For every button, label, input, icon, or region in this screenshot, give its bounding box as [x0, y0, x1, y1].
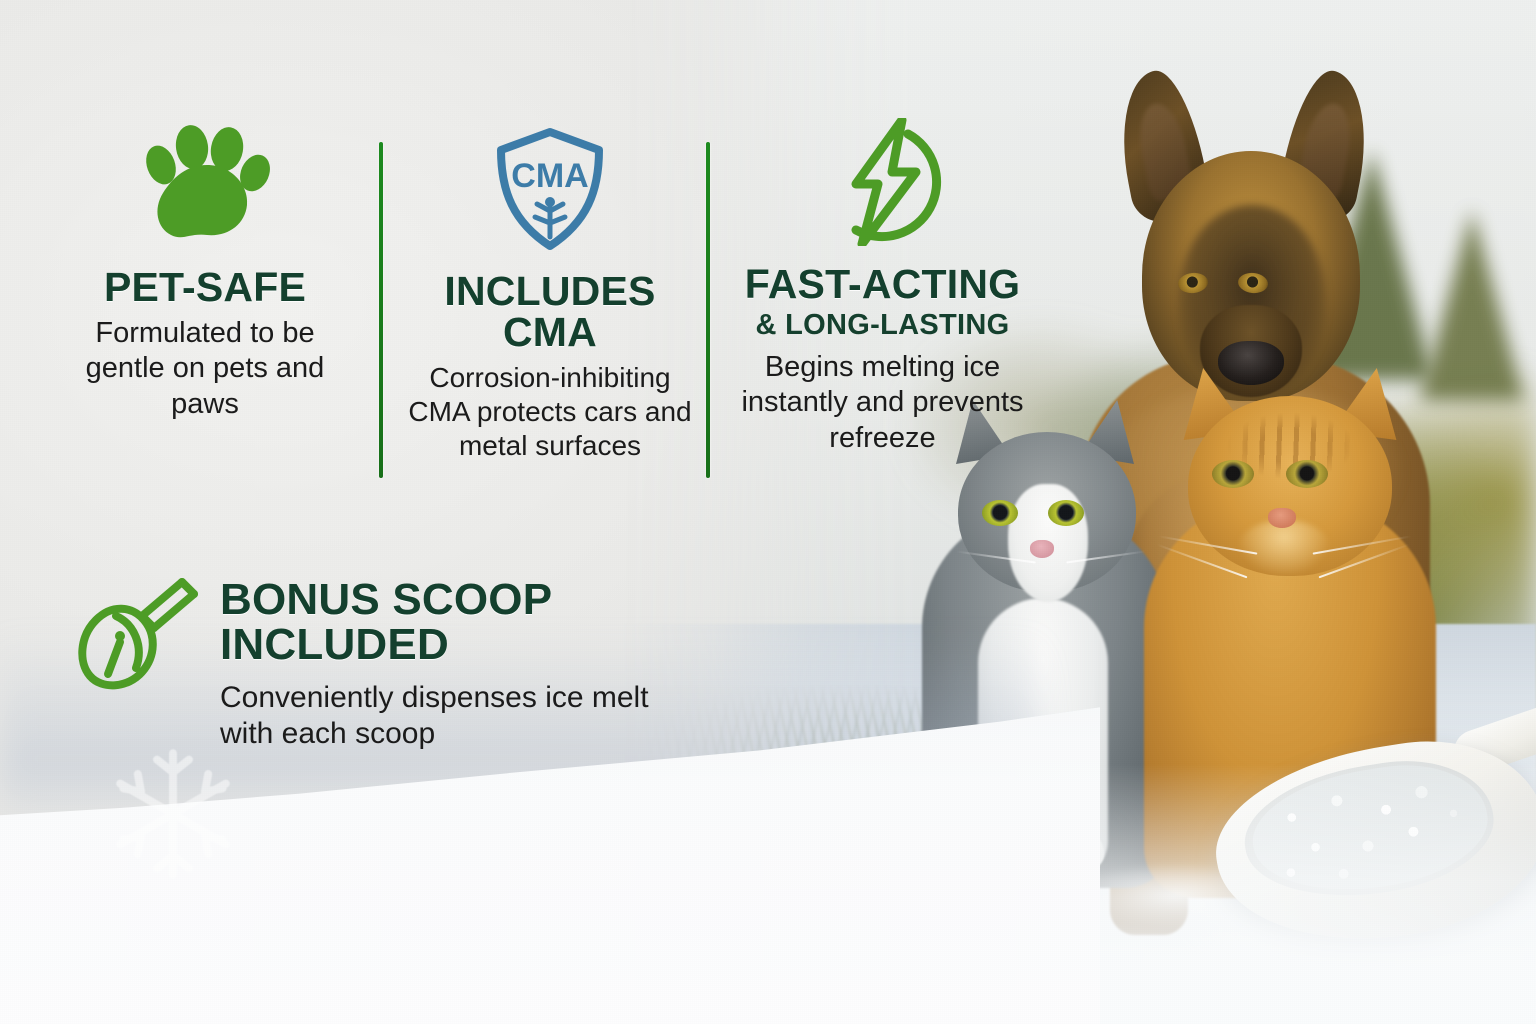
column-divider: [706, 142, 710, 478]
infographic-canvas: PET-SAFE Formulated to be gentle on pets…: [0, 0, 1536, 1024]
cat-eye: [982, 500, 1018, 526]
cma-shield-icon: CMA: [400, 125, 700, 253]
bonus-heading: BONUS SCOOP INCLUDED: [220, 578, 710, 668]
feature-heading: FAST-ACTING: [715, 264, 1050, 305]
scoop-icon: [70, 572, 202, 692]
column-divider: [379, 142, 383, 478]
cat-eye: [1286, 460, 1328, 488]
feature-description: Formulated to be gentle on pets and paws: [60, 316, 350, 422]
lightning-bolt-circle-icon: [715, 118, 1050, 246]
paw-print-icon: [60, 125, 350, 243]
feature-bonus-scoop: BONUS SCOOP INCLUDED Conveniently dispen…: [70, 572, 710, 752]
feature-heading: PET-SAFE: [60, 267, 350, 308]
cat-nose: [1268, 508, 1296, 528]
snowflake-icon: [78, 734, 268, 894]
feature-fast-acting: FAST-ACTING & LONG-LASTING Begins meltin…: [715, 118, 1050, 456]
cat-muzzle: [1238, 520, 1330, 576]
cat-eye: [1048, 500, 1084, 526]
bonus-description: Conveniently dispenses ice melt with eac…: [220, 680, 710, 752]
feature-description: Corrosion-inhibiting CMA protects cars a…: [400, 361, 700, 463]
feature-heading: INCLUDES CMA: [400, 271, 700, 353]
feature-pet-safe: PET-SAFE Formulated to be gentle on pets…: [60, 125, 350, 422]
cat-nose: [1030, 540, 1054, 558]
feature-includes-cma: CMA INCLUDES CMA Corrosion-inhibiting CM…: [400, 125, 700, 463]
feature-description: Begins melting ice instantly and prevent…: [715, 350, 1050, 456]
feature-subheading: & LONG-LASTING: [715, 309, 1050, 342]
cat-eye: [1212, 460, 1254, 488]
cma-shield-label: CMA: [511, 157, 588, 195]
